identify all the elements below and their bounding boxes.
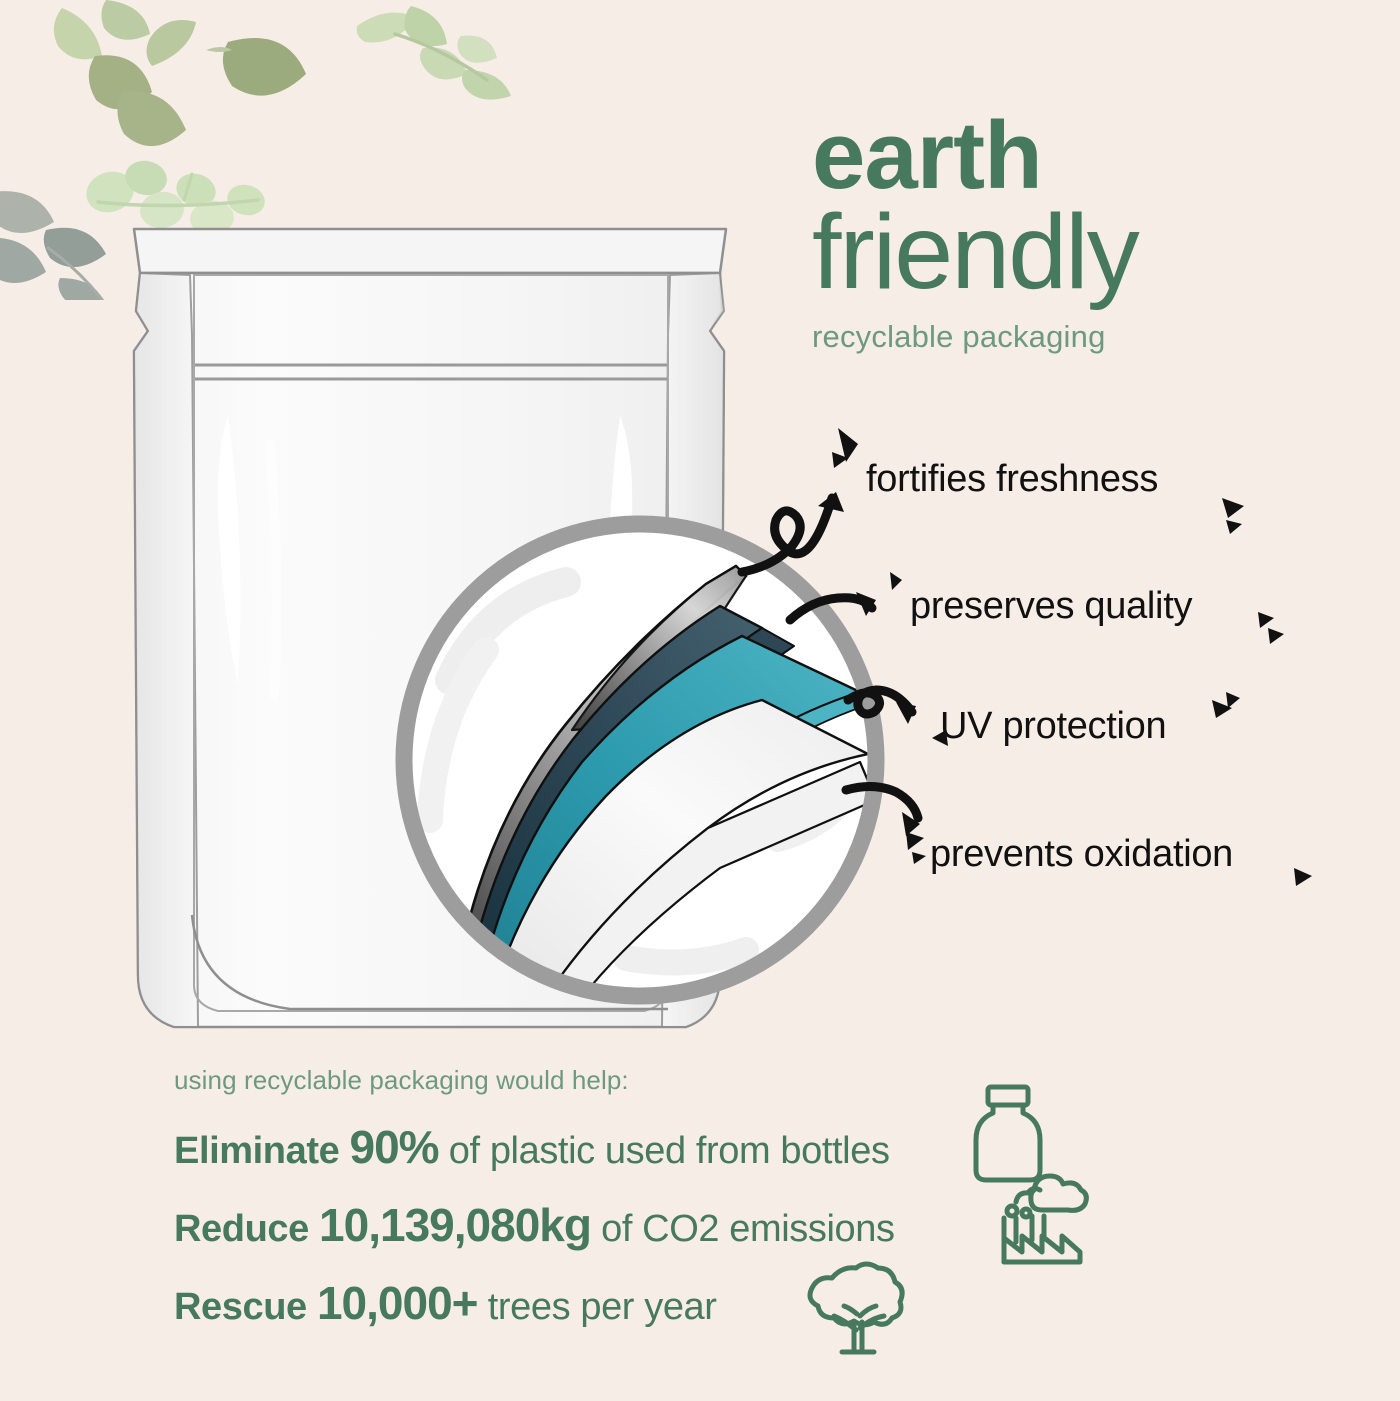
feature-label-preserves-quality: preserves quality bbox=[910, 585, 1192, 628]
stat-row-reduce: Reduce 10,139,080kg of CO2 emissions bbox=[174, 1198, 994, 1252]
page-title-line-2: friendly bbox=[812, 202, 1372, 303]
stat-lead: Rescue bbox=[174, 1286, 307, 1328]
page-subtitle: recyclable packaging bbox=[812, 319, 1372, 355]
stat-row-eliminate: Eliminate 90% of plastic used from bottl… bbox=[174, 1120, 994, 1174]
stat-tail: of CO2 emissions bbox=[601, 1208, 894, 1250]
feature-label-fortifies-freshness: fortifies freshness bbox=[866, 458, 1158, 501]
stat-lead: Eliminate bbox=[174, 1130, 339, 1172]
header-block: earth friendly recyclable packaging bbox=[812, 112, 1372, 355]
feature-label-prevents-oxidation: prevents oxidation bbox=[930, 833, 1233, 876]
stats-lead-in: using recyclable packaging would help: bbox=[174, 1065, 994, 1096]
stat-tail: trees per year bbox=[488, 1286, 717, 1328]
stat-value: 10,139,080kg bbox=[319, 1199, 591, 1251]
tree-icon bbox=[800, 1258, 908, 1364]
stat-lead: Reduce bbox=[174, 1208, 309, 1250]
page-title-line-1: earth bbox=[812, 112, 1372, 200]
feature-label-uv-protection: UV protection bbox=[940, 705, 1166, 748]
earth-friendly-poster: fortifies freshness preserves quality UV… bbox=[0, 0, 1400, 1401]
layer-cross-section-magnifier bbox=[390, 510, 890, 1010]
stat-value: 10,000+ bbox=[317, 1277, 478, 1329]
stat-tail: of plastic used from bottles bbox=[449, 1130, 890, 1172]
factory-icon bbox=[988, 1166, 1096, 1276]
stat-value: 90% bbox=[350, 1121, 439, 1173]
